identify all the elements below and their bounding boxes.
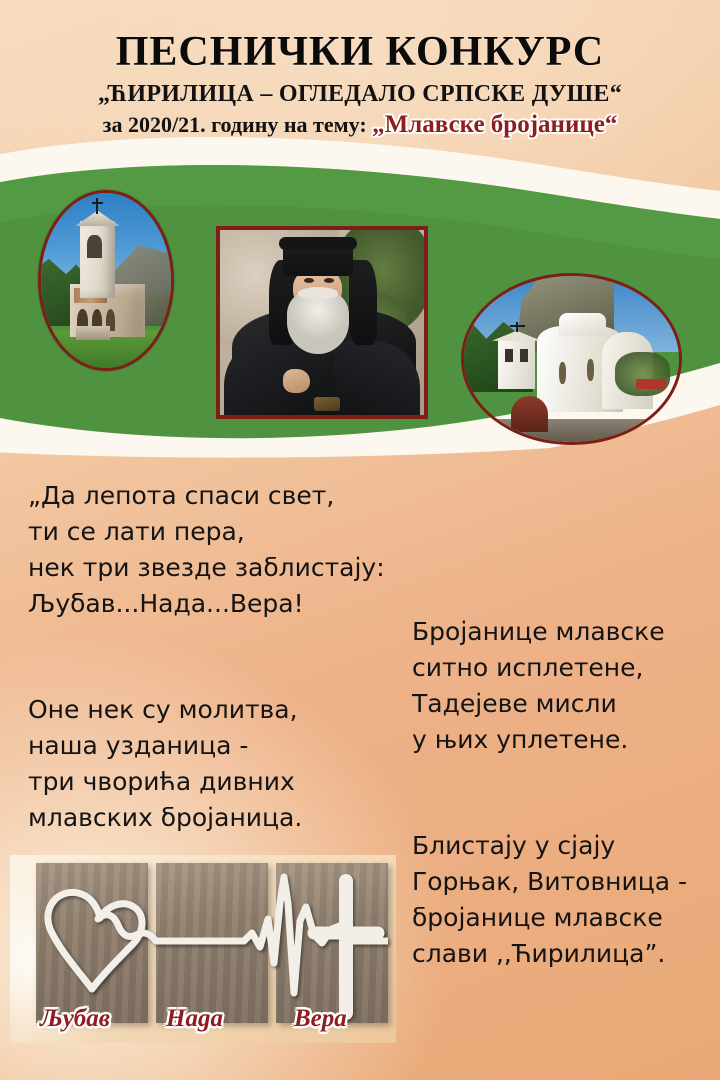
poster-root: ПЕСНИЧКИ КОНКУРС „ЋИРИЛИЦА – ОГЛЕДАЛО СР… [0,0,720,1080]
photo-monastery-left [38,190,174,371]
church-dome [559,313,606,336]
monk-belt-buckle [314,397,341,412]
page-theme-line: за 2020/21. годину на тему: „Млавске бро… [0,112,720,138]
monk-beard [287,291,348,354]
church-window [559,362,567,384]
belfry-window [505,349,514,362]
cross-icon [510,325,525,327]
poem-stanza: „Да лепота спаси свет, ти се лати пера, … [28,478,408,622]
monk-veil-right [349,260,378,345]
heart-heartbeat-cross-symbols [36,863,388,1023]
monk-hand [283,369,310,393]
church-portal [511,396,548,433]
belfry-opening [87,235,103,258]
poster-header: ПЕСНИЧКИ КОНКУРС „ЋИРИЛИЦА – ОГЛЕДАЛО СР… [0,0,720,138]
photo-center-content [220,230,424,415]
poem-left-column: „Да лепота спаси свет, ти се лати пера, … [28,442,408,872]
theme-prefix: за 2020/21. годину на тему: [103,112,373,137]
theme-close-quote: “ [605,111,618,138]
theme-open-quote: „ [372,111,385,138]
page-title: ПЕСНИЧКИ КОНКУРС [0,28,720,76]
cross-icon [96,198,98,214]
photo-right-content [464,276,679,442]
poem-right-column: Бројанице млавске ситно исплетене, Тадеј… [412,578,712,1008]
flowers-region [615,352,671,395]
stone-wall [481,419,662,442]
photo-elder-center [216,226,428,419]
monk-eye-right [324,278,334,283]
church-steps [76,326,110,340]
triptych-label-love: Љубав [40,1005,110,1033]
photo-left-content [41,193,171,368]
red-sign [636,379,666,389]
bell-tower [80,221,115,298]
church-window [587,359,595,381]
heart-icon [48,892,142,989]
monk-eye-left [304,278,314,283]
poem-stanza: Блистају у сјају Горњак, Витовница - бро… [412,828,712,972]
photo-wooden-triptych: Љубав Нада Вера [10,855,396,1043]
bell-tower [498,339,535,389]
cross-icon [516,322,518,332]
triptych-label-faith: Вера [294,1005,347,1033]
theme-highlight: Млавске бројанице [385,111,605,138]
page-subtitle: „ЋИРИЛИЦА – ОГЛЕДАЛО СРПСКЕ ДУШЕ“ [0,80,720,108]
poem-stanza: Оне нек су молитва, наша узданица - три … [28,692,408,836]
photo-monastery-right [461,273,682,445]
monk-kamilavka-brim [279,237,357,250]
poem-stanza: Бројанице млавске ситно исплетене, Тадеј… [412,614,712,758]
triptych-label-hope: Нада [166,1005,223,1033]
cross-icon [92,202,104,204]
belfry-window [520,349,529,362]
